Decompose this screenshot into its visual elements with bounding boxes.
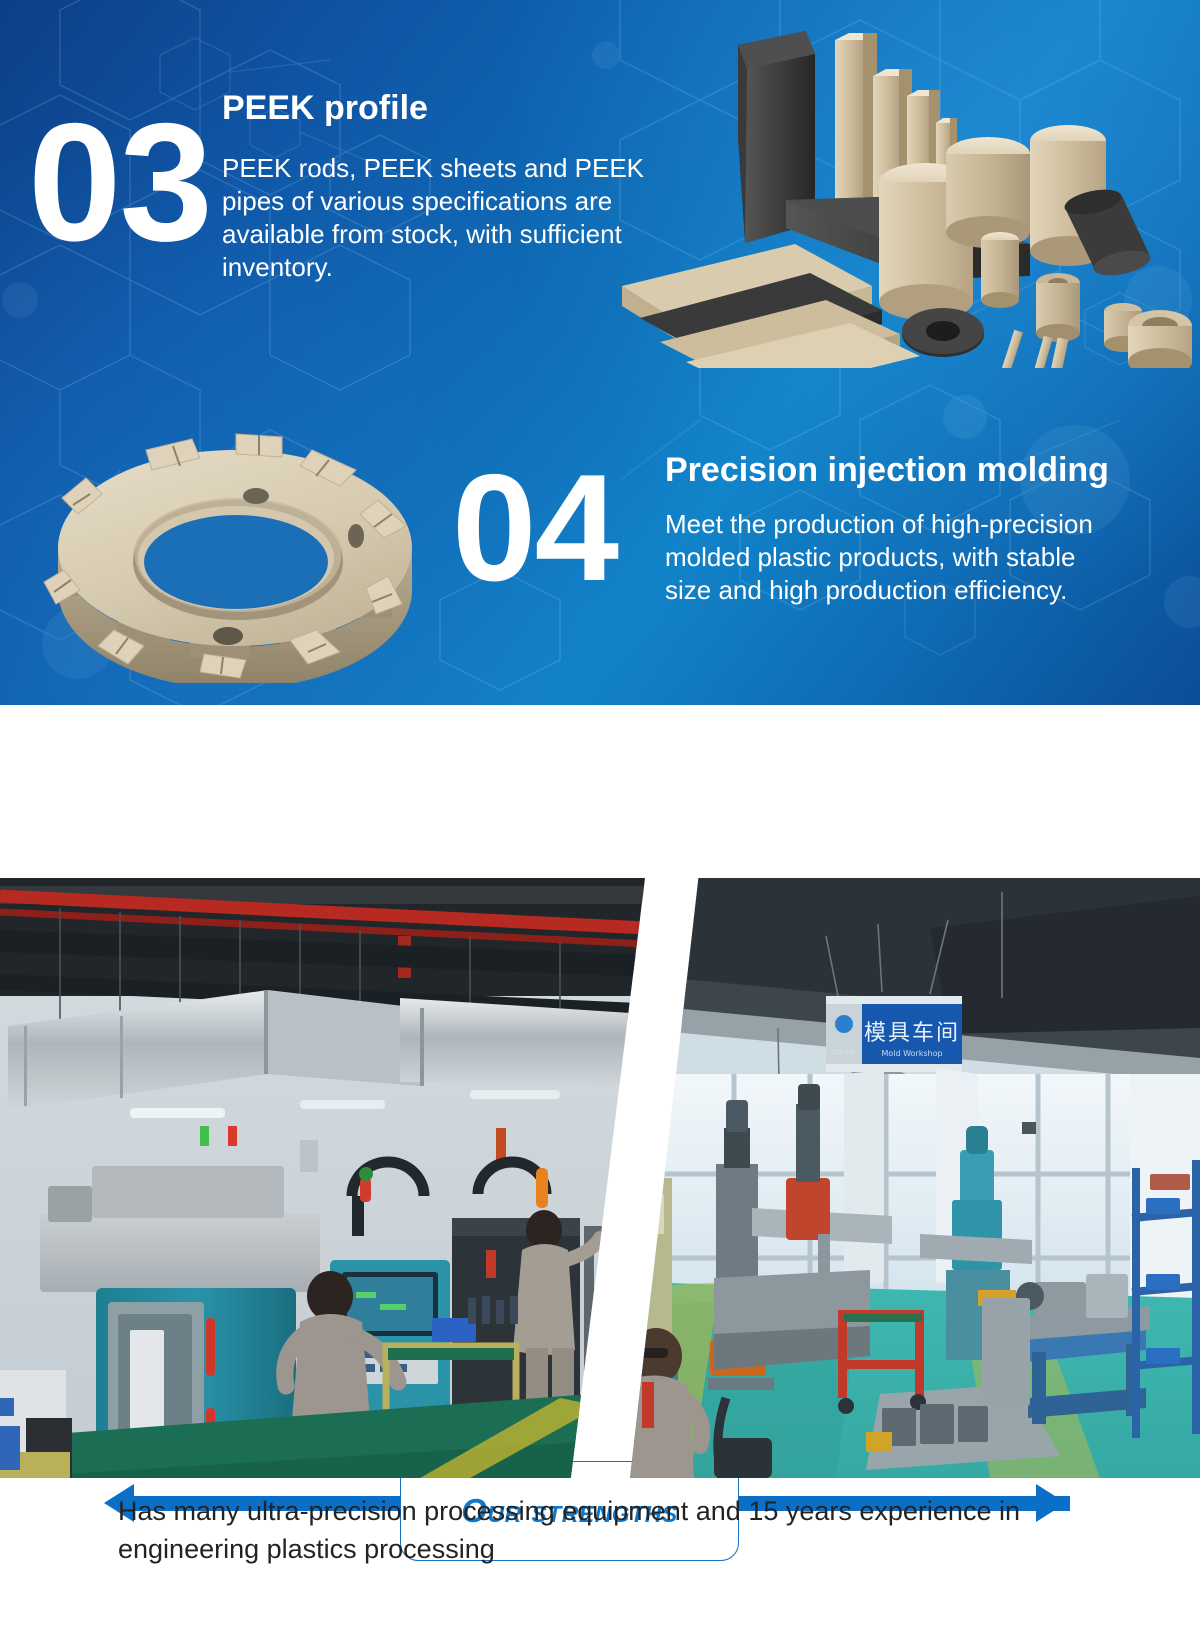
peek-profile-products-image [610, 18, 1200, 368]
svg-text:模具车间: 模具车间 [864, 1021, 960, 1046]
hero-section: 03 PEEK profile PEEK rods, PEEK sheets a… [0, 0, 1200, 705]
cnc-machining-workshop-photo [0, 878, 645, 1478]
block-body-04: Meet the production of high-precision mo… [665, 508, 1095, 607]
page-caption: Has many ultra-precision processing equi… [118, 1492, 1098, 1569]
block-title-03: PEEK profile [222, 90, 428, 127]
strengths-band: Our strengths [0, 705, 1200, 880]
mold-workshop-photo: 南京吉瑞 模具车间 Mold Workshop [630, 878, 1200, 1478]
svg-text:南京吉瑞: 南京吉瑞 [831, 1048, 855, 1056]
factory-photo-gallery: 南京吉瑞 模具车间 Mold Workshop [0, 878, 1200, 1478]
svg-text:Mold Workshop: Mold Workshop [881, 1049, 942, 1058]
block-body-03: PEEK rods, PEEK sheets and PEEK pipes of… [222, 152, 652, 284]
marketing-page: 03 PEEK profile PEEK rods, PEEK sheets a… [0, 0, 1200, 1640]
block-number-04: 04 [452, 452, 617, 604]
peek-gear-ring-image [40, 408, 430, 683]
block-number-03: 03 [28, 98, 211, 266]
block-title-04: Precision injection molding [665, 452, 1109, 489]
